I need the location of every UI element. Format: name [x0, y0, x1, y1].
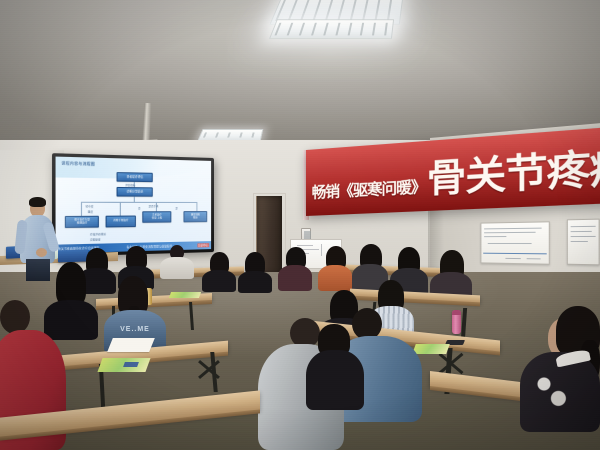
slide-node-2: 诊断分型结论: [117, 187, 153, 197]
slide-node-4: 药物干预治疗: [106, 215, 136, 227]
banner-lead-text: 畅销《驱寒问暖》: [312, 175, 426, 203]
slide-label: 疗效评价随访: [90, 232, 106, 237]
ceiling-light-panel-2: [269, 19, 394, 39]
wall-notice-small: [567, 219, 600, 266]
slide-connector: [120, 202, 121, 216]
slide-connector: [196, 202, 197, 211]
green-brochure: [412, 344, 450, 354]
table-sign-right: [58, 249, 88, 262]
classroom-photo-scene: 课程内容与流程图 患者就诊评估 诊断分型结论 保守治疗方案 物理治疗 药物干预治…: [0, 0, 600, 450]
presenter-hand: [36, 248, 47, 257]
projected-slide: 课程内容与流程图 患者就诊评估 诊断分型结论 保守治疗方案 物理治疗 药物干预治…: [56, 157, 212, 254]
paper-handout: [107, 338, 155, 352]
green-brochure: [169, 292, 201, 298]
slide-connector: [134, 202, 198, 203]
slide-label: 轻中度: [85, 204, 93, 208]
presenter-trousers: [26, 259, 50, 281]
pink-thermos-bottle: [452, 310, 461, 334]
slide-label: 评估指标: [125, 182, 135, 186]
slide-label: 定期复查: [90, 237, 101, 242]
slide-footer-tag: 培训中心: [197, 243, 209, 247]
brochure-accent: [123, 362, 139, 367]
slide-node-3: 保守治疗方案 物理治疗: [65, 216, 99, 228]
slide-label: 是: [175, 206, 177, 210]
slide-label: 否: [138, 206, 141, 210]
wall-notice-large: [481, 221, 550, 264]
projection-screen: 课程内容与流程图 患者就诊评估 诊断分型结论 保守治疗方案 物理治疗 药物干预治…: [52, 153, 214, 257]
slide-connector: [81, 202, 82, 216]
slide-node-6: 康复训练 随访: [183, 211, 207, 222]
presenter-hair: [29, 197, 46, 207]
slide-title: 课程内容与流程图: [61, 160, 95, 166]
jacket-text: VE..ME: [118, 326, 152, 334]
slide-connector: [81, 202, 135, 203]
banner-main-text: 骨关节疼痛训练: [427, 127, 600, 204]
slide-node-5: 手术治疗 转诊 上级: [142, 211, 171, 223]
slide-label: 是否手术: [149, 204, 159, 208]
slide-node-1: 患者就诊评估: [117, 172, 153, 182]
slide-label: 重度: [88, 209, 93, 213]
